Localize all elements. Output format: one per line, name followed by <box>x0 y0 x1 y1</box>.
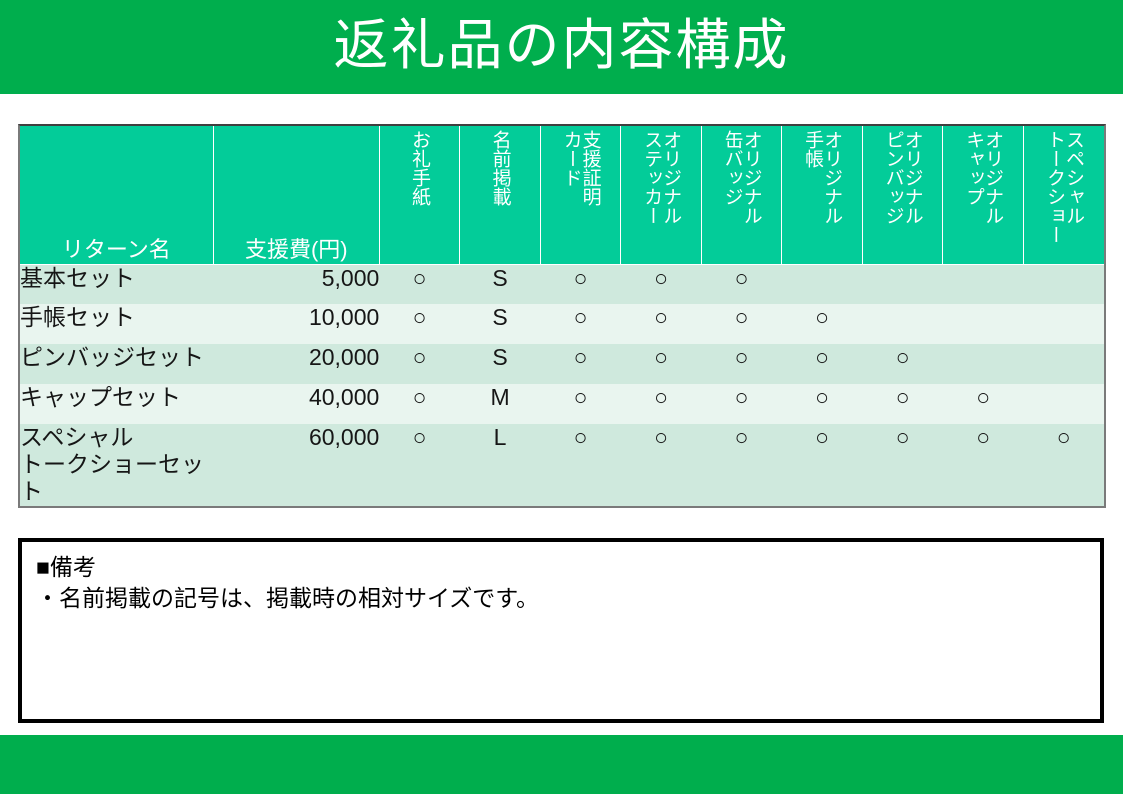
row-name: 手帳セット <box>20 304 213 344</box>
row-cell: ○ <box>862 344 943 384</box>
header-item-original-can-badge: オリジナル 缶バッジ <box>701 126 782 264</box>
row-cell <box>943 304 1024 344</box>
header-item-name-listing: 名前掲載 <box>460 126 541 264</box>
row-cell: ○ <box>379 424 460 506</box>
row-cell: ○ <box>621 424 702 506</box>
header-item-thankyou-letter: お礼手紙 <box>379 126 460 264</box>
header-item-original-notebook: オリジナル 手帳 <box>782 126 863 264</box>
header-item-original-cap: オリジナル キャップ <box>943 126 1024 264</box>
row-cell: ○ <box>379 384 460 424</box>
table-row: スペシャル トークショーセット 60,000 ○ L ○ ○ ○ ○ ○ ○ ○ <box>20 424 1104 506</box>
page-title: 返礼品の内容構成 <box>0 0 1123 94</box>
row-cell: M <box>460 384 541 424</box>
table-row: ピンバッジセット 20,000 ○ S ○ ○ ○ ○ ○ <box>20 344 1104 384</box>
header-support-price: 支援費(円) <box>213 126 379 264</box>
row-price: 60,000 <box>213 424 379 506</box>
row-cell: ○ <box>701 264 782 304</box>
row-cell: ○ <box>379 304 460 344</box>
row-cell: S <box>460 264 541 304</box>
row-price: 5,000 <box>213 264 379 304</box>
header-item-line2: トークショー <box>1045 130 1064 244</box>
row-cell: L <box>460 424 541 506</box>
header-item-line1: オリジナル <box>661 130 680 225</box>
row-cell: ○ <box>540 304 621 344</box>
header-item-line1: オリジナル <box>822 130 841 225</box>
row-name: キャップセット <box>20 384 213 424</box>
row-cell: ○ <box>621 384 702 424</box>
row-name: ピンバッジセット <box>20 344 213 384</box>
header-item-original-sticker: オリジナル ステッカー <box>621 126 702 264</box>
row-cell <box>1023 384 1104 424</box>
header-item-line2: キャップ <box>964 130 983 206</box>
return-matrix-table-container: リターン名 支援費(円) お礼手紙 名前掲載 支援証明 <box>18 124 1106 508</box>
row-cell: S <box>460 344 541 384</box>
table-row: 基本セット 5,000 ○ S ○ ○ ○ <box>20 264 1104 304</box>
header-item-special-talk-show: スペシャル トークショー <box>1023 126 1104 264</box>
row-price: 40,000 <box>213 384 379 424</box>
header-item-line2: カード <box>562 130 581 187</box>
table-body: 基本セット 5,000 ○ S ○ ○ ○ 手帳セット 10,000 ○ S ○… <box>20 264 1104 506</box>
row-cell <box>862 264 943 304</box>
return-matrix-table: リターン名 支援費(円) お礼手紙 名前掲載 支援証明 <box>20 126 1104 506</box>
row-cell: ○ <box>540 344 621 384</box>
row-cell <box>1023 304 1104 344</box>
header-item-line1: オリジナル <box>903 130 922 225</box>
row-price: 20,000 <box>213 344 379 384</box>
row-cell: ○ <box>379 264 460 304</box>
row-cell: ○ <box>701 384 782 424</box>
header-item-line1: オリジナル <box>742 130 761 225</box>
row-cell: ○ <box>862 424 943 506</box>
header-item-line2: ステッカー <box>642 130 661 225</box>
row-cell: ○ <box>862 384 943 424</box>
remarks-bullet-1: ・名前掲載の記号は、掲載時の相対サイズです。 <box>36 583 1100 614</box>
header-item-line1: スペシャル <box>1064 130 1083 225</box>
row-cell: ○ <box>943 384 1024 424</box>
row-cell <box>1023 264 1104 304</box>
header-item-line1: 名前掲載 <box>491 130 510 206</box>
row-name: スペシャル トークショーセット <box>20 424 213 506</box>
row-name: 基本セット <box>20 264 213 304</box>
remarks-box: ■備考 ・名前掲載の記号は、掲載時の相対サイズです。 <box>18 538 1104 723</box>
row-cell: ○ <box>379 344 460 384</box>
bottom-green-banner <box>0 735 1123 794</box>
header-item-original-pin-badge: オリジナル ピンバッジ <box>862 126 943 264</box>
table-header-row: リターン名 支援費(円) お礼手紙 名前掲載 支援証明 <box>20 126 1104 264</box>
row-cell <box>782 264 863 304</box>
remarks-heading: ■備考 <box>36 552 1100 583</box>
row-cell: ○ <box>621 264 702 304</box>
row-cell: S <box>460 304 541 344</box>
header-item-support-certificate-card: 支援証明 カード <box>540 126 621 264</box>
header-item-line2: 手帳 <box>803 130 822 168</box>
header-item-line1: 支援証明 <box>581 130 600 206</box>
row-cell: ○ <box>701 304 782 344</box>
row-cell <box>1023 344 1104 384</box>
row-cell: ○ <box>701 344 782 384</box>
row-cell: ○ <box>540 264 621 304</box>
row-cell: ○ <box>621 304 702 344</box>
table-row: 手帳セット 10,000 ○ S ○ ○ ○ ○ <box>20 304 1104 344</box>
row-cell: ○ <box>1023 424 1104 506</box>
row-cell: ○ <box>782 304 863 344</box>
row-cell <box>943 264 1024 304</box>
row-cell: ○ <box>782 344 863 384</box>
row-cell: ○ <box>621 344 702 384</box>
row-cell <box>943 344 1024 384</box>
header-return-name: リターン名 <box>20 126 213 264</box>
row-cell: ○ <box>701 424 782 506</box>
row-cell <box>862 304 943 344</box>
header-item-line2: ピンバッジ <box>884 130 903 225</box>
top-green-banner: 返礼品の内容構成 <box>0 0 1123 94</box>
row-cell: ○ <box>782 424 863 506</box>
header-item-line1: お礼手紙 <box>410 130 429 206</box>
header-item-line1: オリジナル <box>983 130 1002 225</box>
row-cell: ○ <box>540 384 621 424</box>
row-cell: ○ <box>540 424 621 506</box>
row-cell: ○ <box>782 384 863 424</box>
header-item-line2: 缶バッジ <box>723 130 742 206</box>
row-cell: ○ <box>943 424 1024 506</box>
table-row: キャップセット 40,000 ○ M ○ ○ ○ ○ ○ ○ <box>20 384 1104 424</box>
row-price: 10,000 <box>213 304 379 344</box>
